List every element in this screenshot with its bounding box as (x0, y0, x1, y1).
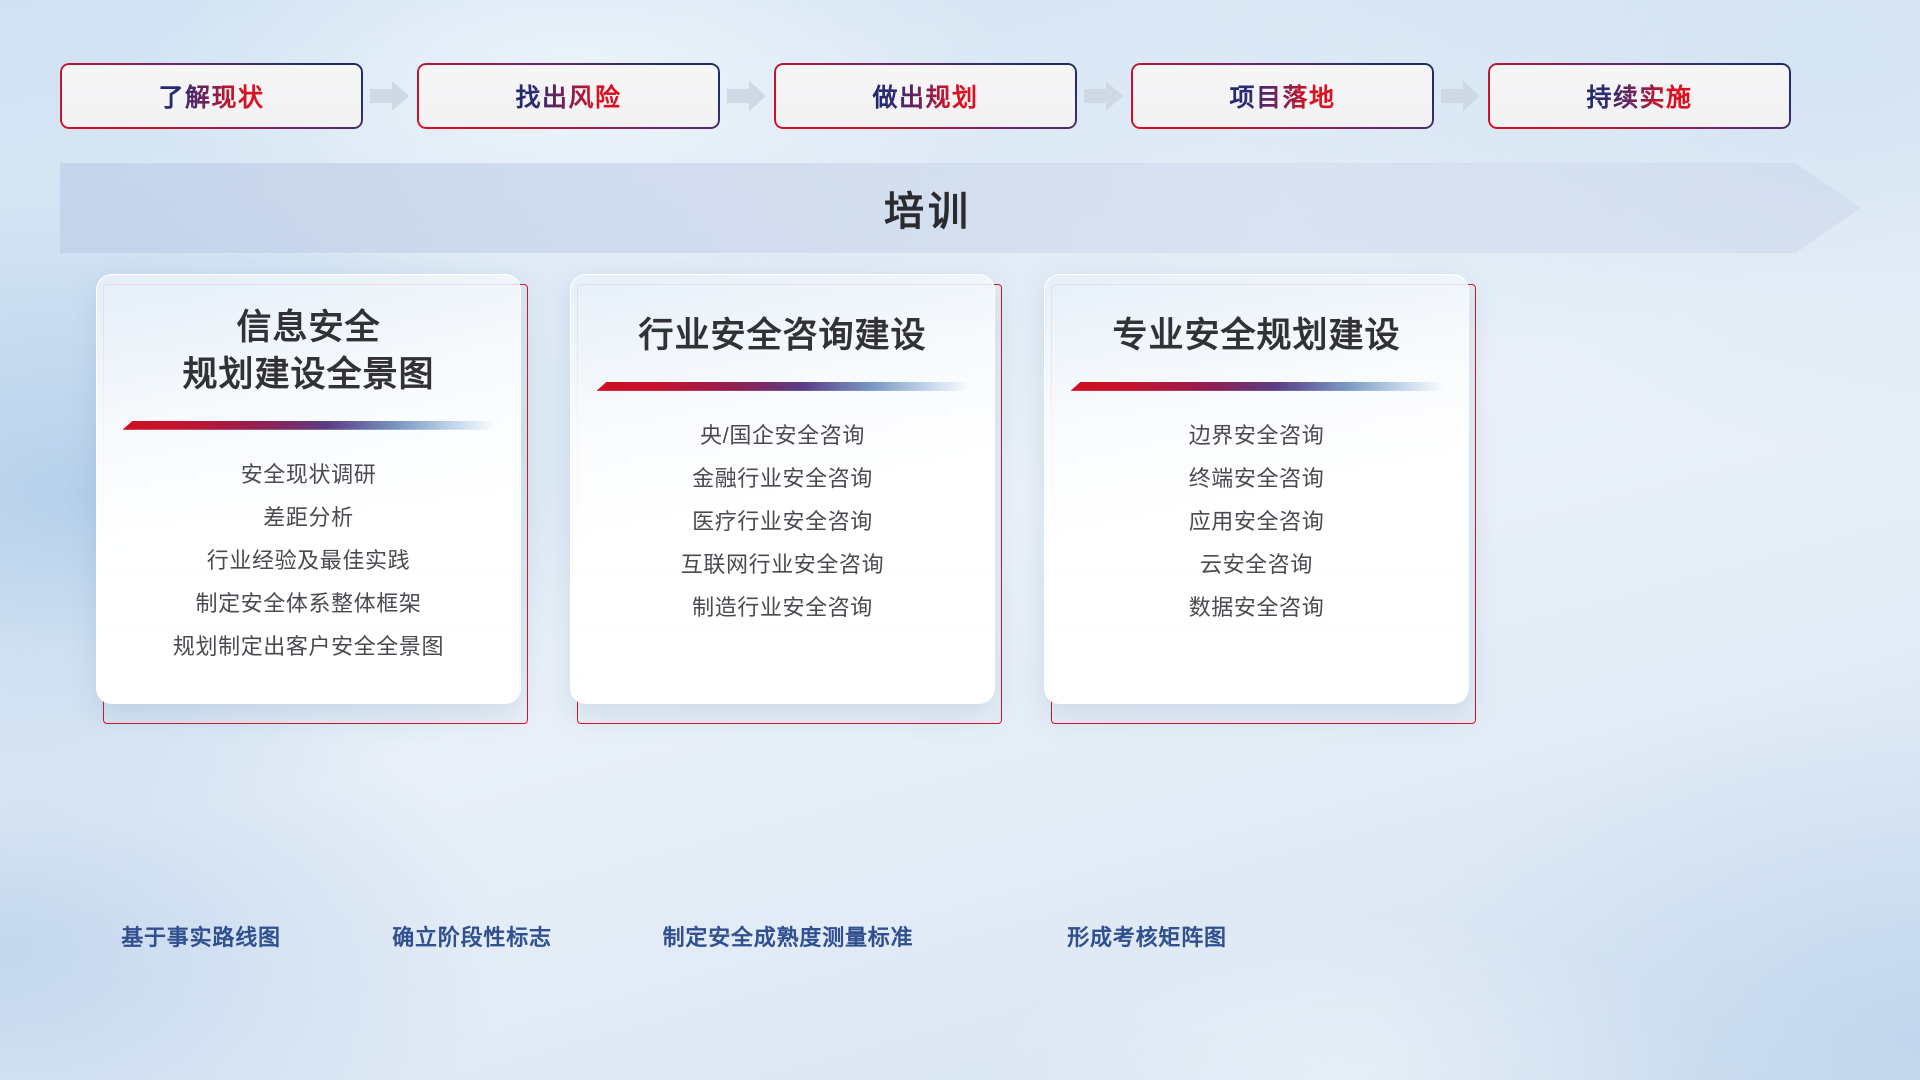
card-title-line: 信息安全 (182, 305, 434, 352)
list-item[interactable]: 央/国企安全咨询 (700, 419, 865, 453)
training-banner: 培训 (60, 163, 1860, 253)
step-chip-3[interactable]: 做出规划 (774, 63, 1077, 129)
card-title-line: 专业安全规划建设 (1112, 313, 1400, 360)
arrow-right-icon (720, 80, 774, 112)
list-item[interactable]: 应用安全咨询 (1189, 505, 1325, 539)
slide-canvas: 了解现状 找出风险 做出规划 (0, 0, 1920, 1080)
step-chip-4[interactable]: 项目落地 (1131, 63, 1434, 129)
list-item[interactable]: 制定安全体系整体框架 (195, 587, 421, 621)
list-item[interactable]: 行业经验及最佳实践 (207, 544, 410, 578)
card-slot-2: 行业安全咨询建设 央/国企安全咨询 金融行业安全咨询 医疗行业安全咨询 互联网行… (570, 274, 995, 714)
step-wrap-5: 持续实施 (1488, 63, 1791, 129)
step-chip-1[interactable]: 了解现状 (60, 63, 363, 129)
card-title-line: 行业安全咨询建设 (638, 313, 926, 360)
card-accent-divider (123, 421, 495, 430)
capability-card-3[interactable]: 专业安全规划建设 边界安全咨询 终端安全咨询 应用安全咨询 云安全咨询 数据安全… (1044, 274, 1469, 704)
arrow-right-icon (1434, 80, 1488, 112)
footnote-1: 基于事实路线图 (121, 920, 281, 952)
step-chip-label: 找出风险 (515, 78, 621, 114)
list-item[interactable]: 数据安全咨询 (1189, 591, 1325, 625)
list-item[interactable]: 云安全咨询 (1200, 548, 1313, 582)
list-item[interactable]: 互联网行业安全咨询 (681, 548, 884, 582)
card-item-list: 安全现状调研 差距分析 行业经验及最佳实践 制定安全体系整体框架 规划制定出客户… (173, 458, 444, 664)
step-chip-label: 项目落地 (1229, 78, 1335, 114)
footnote-3: 制定安全成熟度测量标准 (663, 920, 914, 952)
footnote-row: 基于事实路线图 确立阶段性标志 制定安全成熟度测量标准 形成考核矩阵图 (0, 920, 1920, 964)
step-chip-label: 了解现状 (158, 78, 264, 114)
step-chip-2[interactable]: 找出风险 (417, 63, 720, 129)
card-accent-divider (1071, 382, 1443, 391)
step-chip-label: 做出规划 (872, 78, 978, 114)
step-wrap-2: 找出风险 (417, 63, 774, 129)
card-title: 信息安全 规划建设全景图 (164, 305, 452, 399)
footnote-2: 确立阶段性标志 (392, 920, 552, 952)
step-chip-5[interactable]: 持续实施 (1488, 63, 1791, 129)
list-item[interactable]: 差距分析 (263, 501, 353, 535)
list-item[interactable]: 医疗行业安全咨询 (692, 505, 873, 539)
list-item[interactable]: 边界安全咨询 (1189, 419, 1325, 453)
list-item[interactable]: 安全现状调研 (241, 458, 377, 492)
card-item-list: 央/国企安全咨询 金融行业安全咨询 医疗行业安全咨询 互联网行业安全咨询 制造行… (681, 419, 884, 625)
card-title-line: 规划建设全景图 (182, 352, 434, 399)
capability-card-2[interactable]: 行业安全咨询建设 央/国企安全咨询 金融行业安全咨询 医疗行业安全咨询 互联网行… (570, 274, 995, 704)
card-accent-divider (597, 382, 969, 391)
arrow-right-icon (363, 80, 417, 112)
capability-card-row: 信息安全 规划建设全景图 安全现状调研 差距分析 行业经验及最佳实践 制定安全体… (96, 274, 1826, 714)
list-item[interactable]: 金融行业安全咨询 (692, 462, 873, 496)
list-item[interactable]: 规划制定出客户安全全景图 (173, 630, 444, 664)
list-item[interactable]: 制造行业安全咨询 (692, 591, 873, 625)
arrow-right-icon (1077, 80, 1131, 112)
training-banner-label: 培训 (60, 163, 1796, 253)
card-slot-3: 专业安全规划建设 边界安全咨询 终端安全咨询 应用安全咨询 云安全咨询 数据安全… (1044, 274, 1469, 714)
card-item-list: 边界安全咨询 终端安全咨询 应用安全咨询 云安全咨询 数据安全咨询 (1189, 419, 1325, 625)
list-item[interactable]: 终端安全咨询 (1189, 462, 1325, 496)
card-title: 专业安全规划建设 (1094, 313, 1418, 360)
card-slot-1: 信息安全 规划建设全景图 安全现状调研 差距分析 行业经验及最佳实践 制定安全体… (96, 274, 521, 714)
step-wrap-4: 项目落地 (1131, 63, 1488, 129)
process-step-row: 了解现状 找出风险 做出规划 (60, 63, 1860, 129)
step-wrap-3: 做出规划 (774, 63, 1131, 129)
card-title: 行业安全咨询建设 (620, 313, 944, 360)
capability-card-1[interactable]: 信息安全 规划建设全景图 安全现状调研 差距分析 行业经验及最佳实践 制定安全体… (96, 274, 521, 704)
step-wrap-1: 了解现状 (60, 63, 417, 129)
footnote-4: 形成考核矩阵图 (1067, 920, 1227, 952)
step-chip-label: 持续实施 (1586, 78, 1692, 114)
